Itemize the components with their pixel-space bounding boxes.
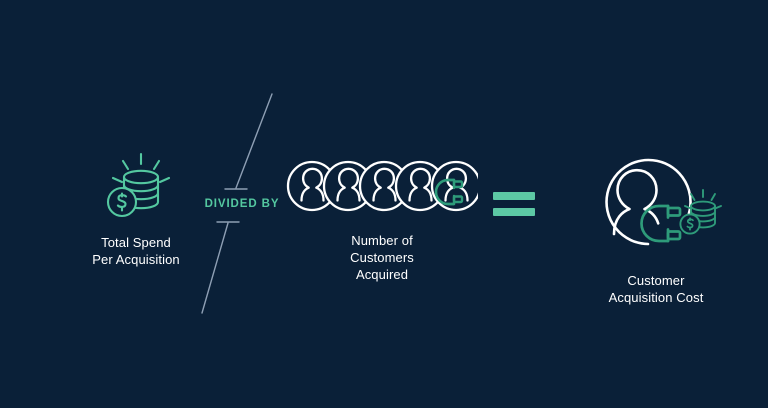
term-label-customer-acquisition-cost: Customer Acquisition Cost [609,272,704,306]
coin-stack-small-icon [680,190,721,234]
term-customer-acquisition-cost: Customer Acquisition Cost [566,148,746,306]
term-label-total-spend: Total Spend Per Acquisition [92,234,180,268]
term-number-of-customers-acquired: Number of Customers Acquired [286,158,478,283]
magnet-icon [642,206,681,241]
equals-sign [493,192,535,216]
term-label-number-of-customers: Number of Customers Acquired [350,232,414,283]
equals-bar-bottom [493,208,535,216]
divided-by-operator: DIVIDED BY [180,80,300,330]
customer-chain-magnet-icon [286,158,478,224]
customer-magnet-coins-icon [586,148,726,260]
divided-by-label: DIVIDED BY [194,198,290,211]
coin-stack-icon [97,152,175,224]
infographic-canvas: Total Spend Per Acquisition DIVIDED BY [0,0,768,408]
equals-bar-top [493,192,535,200]
